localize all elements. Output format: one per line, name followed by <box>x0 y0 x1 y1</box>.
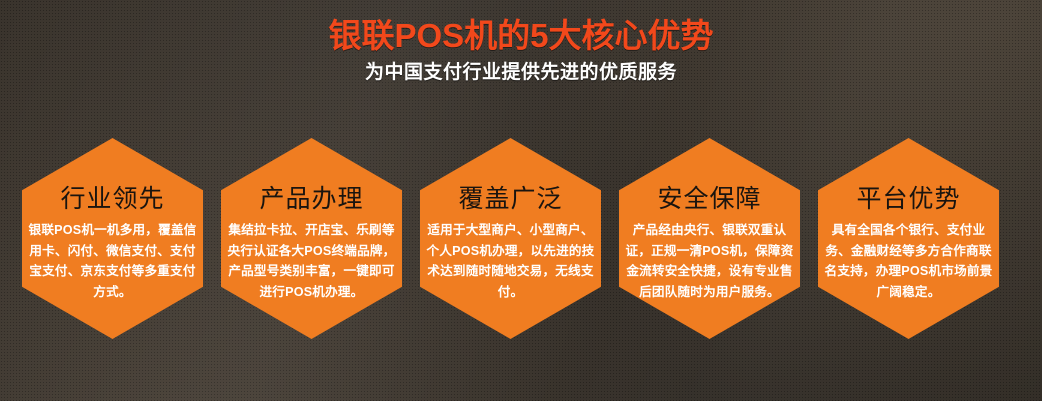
advantage-card-4-body: 产品经由央行、银联双重认证，正规一清POS机，保障资金流转安全快捷，设有专业售后… <box>625 220 794 302</box>
advantage-card-2[interactable]: 产品办理 集结拉卡拉、开店宝、乐刷等央行认证各大POS终端品牌，产品型号类别丰富… <box>221 138 402 339</box>
advantage-card-1-title: 行业领先 <box>28 138 197 214</box>
advantage-card-5-title: 平台优势 <box>824 138 993 214</box>
promo-banner: 银联POS机的5大核心优势 为中国支付行业提供先进的优质服务 行业领先 银联PO… <box>0 0 1042 401</box>
advantage-card-4-content: 安全保障 产品经由央行、银联双重认证，正规一清POS机，保障资金流转安全快捷，设… <box>625 138 794 302</box>
page-title: 银联POS机的5大核心优势 <box>0 16 1042 56</box>
advantage-card-2-title: 产品办理 <box>227 138 396 214</box>
advantage-card-3[interactable]: 覆盖广泛 适用于大型商户、小型商户、个人POS机办理，以先进的技术达到随时随地交… <box>420 138 601 339</box>
advantage-card-1-content: 行业领先 银联POS机一机多用，覆盖信用卡、闪付、微信支付、支付宝支付、京东支付… <box>28 138 197 302</box>
advantage-card-3-content: 覆盖广泛 适用于大型商户、小型商户、个人POS机办理，以先进的技术达到随时随地交… <box>426 138 595 302</box>
advantage-card-3-body: 适用于大型商户、小型商户、个人POS机办理，以先进的技术达到随时随地交易，无线支… <box>426 220 595 302</box>
advantage-card-5-content: 平台优势 具有全国各个银行、支付业务、金融财经等多方合作商联名支持，办理POS机… <box>824 138 993 302</box>
advantage-card-4-title: 安全保障 <box>625 138 794 214</box>
advantage-card-2-content: 产品办理 集结拉卡拉、开店宝、乐刷等央行认证各大POS终端品牌，产品型号类别丰富… <box>227 138 396 302</box>
advantage-hexagon-row: 行业领先 银联POS机一机多用，覆盖信用卡、闪付、微信支付、支付宝支付、京东支付… <box>0 138 1042 343</box>
advantage-card-1-body: 银联POS机一机多用，覆盖信用卡、闪付、微信支付、支付宝支付、京东支付等多重支付… <box>28 220 197 302</box>
advantage-card-5-body: 具有全国各个银行、支付业务、金融财经等多方合作商联名支持，办理POS机市场前景广… <box>824 220 993 302</box>
page-subtitle: 为中国支付行业提供先进的优质服务 <box>0 60 1042 86</box>
advantage-card-5[interactable]: 平台优势 具有全国各个银行、支付业务、金融财经等多方合作商联名支持，办理POS机… <box>818 138 999 339</box>
advantage-card-1[interactable]: 行业领先 银联POS机一机多用，覆盖信用卡、闪付、微信支付、支付宝支付、京东支付… <box>22 138 203 339</box>
advantage-card-2-body: 集结拉卡拉、开店宝、乐刷等央行认证各大POS终端品牌，产品型号类别丰富，一键即可… <box>227 220 396 302</box>
banner-header: 银联POS机的5大核心优势 为中国支付行业提供先进的优质服务 <box>0 16 1042 86</box>
advantage-card-3-title: 覆盖广泛 <box>426 138 595 214</box>
advantage-card-4[interactable]: 安全保障 产品经由央行、银联双重认证，正规一清POS机，保障资金流转安全快捷，设… <box>619 138 800 339</box>
